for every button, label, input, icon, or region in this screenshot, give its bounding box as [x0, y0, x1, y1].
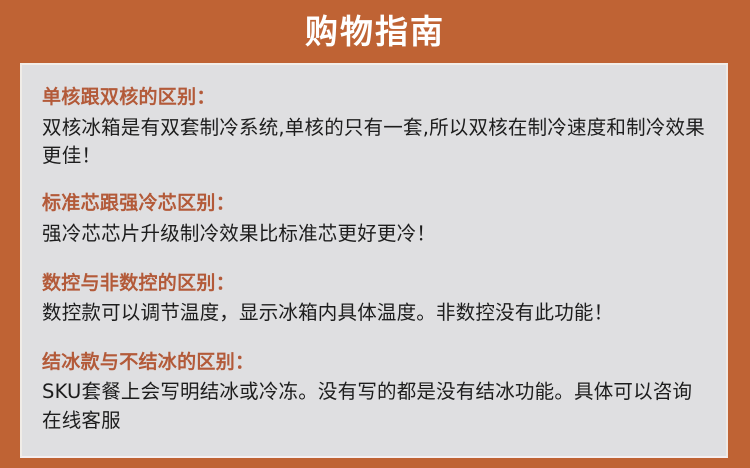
guide-section-digital-control: 数控与非数控的区别： 数控款可以调节温度，显示冰箱内具体温度。非数控没有此功能！: [42, 269, 706, 328]
page-banner: 购物指南: [0, 0, 750, 63]
section-body-chip-type: 强冷芯芯片升级制冷效果比标准芯更好更冷！: [42, 220, 706, 249]
shopping-guide-page: 购物指南 单核跟双核的区别： 双核冰箱是有双套制冷系统,单核的只有一套,所以双核…: [0, 0, 750, 468]
section-heading-freezing: 结冰款与不结冰的区别：: [42, 348, 706, 377]
section-heading-core-type: 单核跟双核的区别：: [42, 83, 706, 112]
section-body-digital-control: 数控款可以调节温度，显示冰箱内具体温度。非数控没有此功能！: [42, 299, 706, 328]
section-heading-digital-control: 数控与非数控的区别：: [42, 269, 706, 298]
guide-section-freezing: 结冰款与不结冰的区别： SKU套餐上会写明结冰或冷冻。没有写的都是没有结冰功能。…: [42, 348, 706, 436]
guide-content-card: 单核跟双核的区别： 双核冰箱是有双套制冷系统,单核的只有一套,所以双核在制冷速度…: [20, 63, 728, 458]
section-body-core-type: 双核冰箱是有双套制冷系统,单核的只有一套,所以双核在制冷速度和制冷效果更佳！: [42, 114, 706, 172]
guide-section-chip-type: 标准芯跟强冷芯区别： 强冷芯芯片升级制冷效果比标准芯更好更冷！: [42, 189, 706, 248]
page-title: 购物指南: [305, 15, 445, 48]
guide-section-core-type: 单核跟双核的区别： 双核冰箱是有双套制冷系统,单核的只有一套,所以双核在制冷速度…: [42, 83, 706, 171]
section-body-freezing: SKU套餐上会写明结冰或冷冻。没有写的都是没有结冰功能。具体可以咨询在线客服: [42, 378, 706, 436]
section-heading-chip-type: 标准芯跟强冷芯区别：: [42, 189, 706, 218]
